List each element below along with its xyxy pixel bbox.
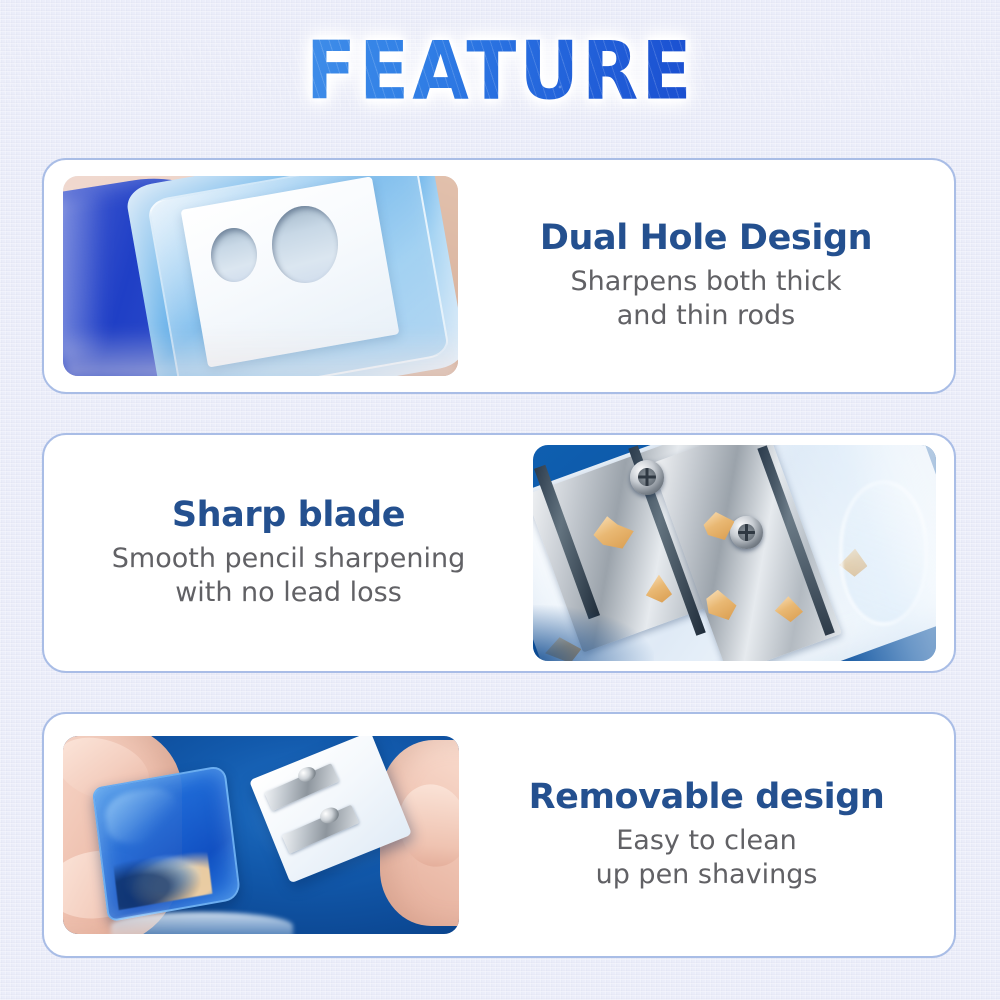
- photo-foreground-surface: [111, 912, 293, 934]
- photo-blue-sharpener-dual-hole: [63, 176, 458, 376]
- shavings-inside-container: [112, 841, 211, 909]
- sharpener-large-hole: [272, 206, 337, 283]
- feature-image-sharp-blade: [533, 445, 936, 661]
- feature-card-dual-hole-design[interactable]: Dual Hole Design Sharpens both thick and…: [42, 158, 956, 394]
- feature-heading: Removable design: [473, 778, 940, 817]
- feature-subtext: Easy to clean up pen shavings: [473, 824, 940, 892]
- feature-text-sharp-blade: Sharp blade Smooth pencil sharpening wit…: [44, 496, 533, 610]
- blue-shavings-container: [91, 764, 240, 921]
- blade-screw-upper: [630, 460, 664, 495]
- container-highlight: [102, 783, 181, 848]
- feature-heading: Dual Hole Design: [472, 219, 940, 258]
- photo-soft-focus-overlay: [783, 445, 936, 661]
- feature-image-removable-design: [63, 736, 459, 934]
- feature-infographic-page: FEATURE Dual Hole Design Sharpens both t…: [0, 0, 1000, 1000]
- feature-card-sharp-blade[interactable]: Sharp blade Smooth pencil sharpening wit…: [42, 433, 956, 673]
- feature-card-removable-design[interactable]: Removable design Easy to clean up pen sh…: [42, 712, 956, 958]
- feature-subtext: Smooth pencil sharpening with no lead lo…: [58, 542, 519, 610]
- photo-hands-removing-container: [63, 736, 459, 934]
- page-title: FEATURE: [306, 32, 695, 112]
- photo-corner-shadow: [533, 605, 654, 661]
- sharpener-small-hole: [211, 228, 257, 282]
- feature-subtext: Sharpens both thick and thin rods: [472, 265, 940, 333]
- page-title-container: FEATURE: [0, 38, 1000, 107]
- photo-blade-mechanism: [533, 445, 936, 661]
- feature-text-removable-design: Removable design Easy to clean up pen sh…: [459, 778, 954, 892]
- blade-screw-lower: [730, 516, 762, 548]
- feature-heading: Sharp blade: [58, 496, 519, 535]
- feature-image-dual-hole-design: [63, 176, 458, 376]
- photo-bottom-blur: [63, 328, 458, 376]
- feature-text-dual-hole-design: Dual Hole Design Sharpens both thick and…: [458, 219, 954, 333]
